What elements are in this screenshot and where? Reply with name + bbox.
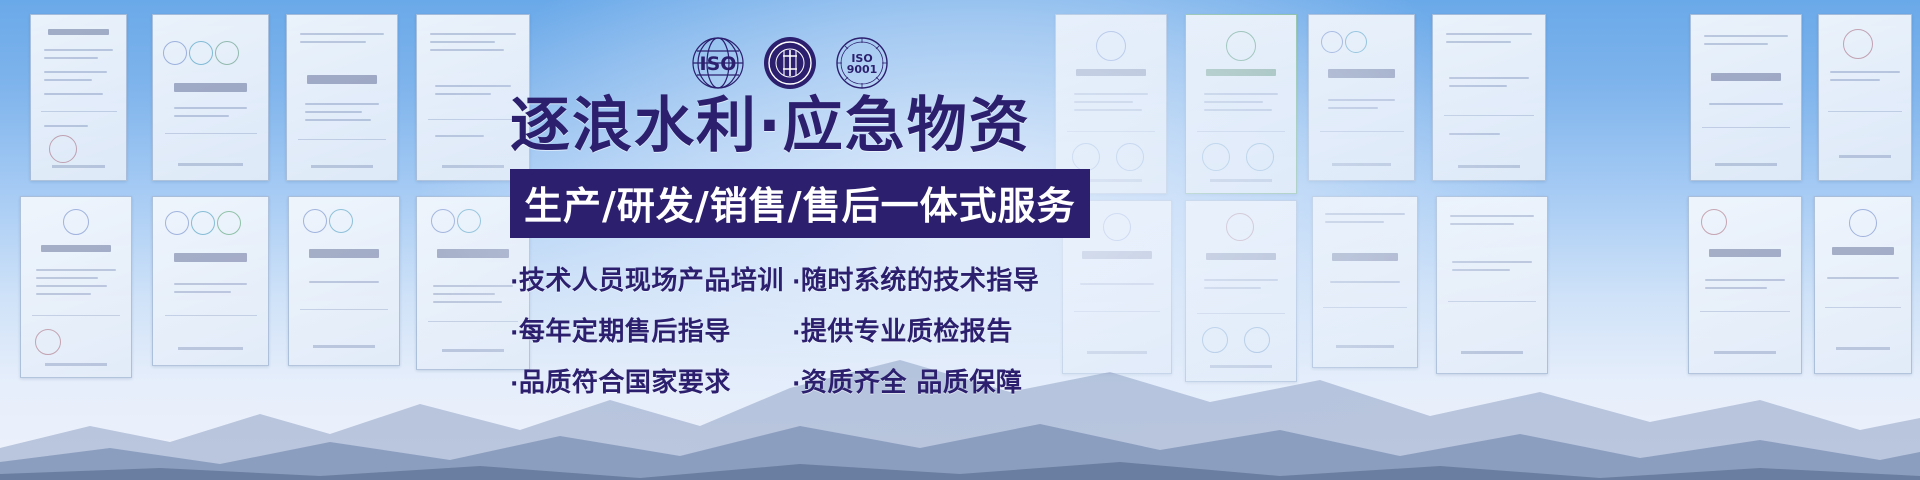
feature-item: ·随时系统的技术指导 (792, 260, 1039, 297)
feature-text: 资质齐全 品质保障 (801, 368, 1023, 398)
feature-item: ·品质符合国家要求 (510, 362, 792, 399)
feature-text: 随时系统的技术指导 (801, 266, 1040, 296)
feature-row: ·每年定期售后指导 ·提供专业质检报告 (510, 311, 1090, 348)
bullet-icon: · (510, 270, 519, 295)
feature-text: 每年定期售后指导 (519, 317, 731, 347)
svg-text:ISO: ISO (700, 53, 737, 75)
quality-inspection-seal (762, 35, 818, 91)
feature-text: 提供专业质检报告 (801, 317, 1013, 347)
feature-text: 技术人员现场产品培训 (519, 266, 784, 296)
bullet-icon: · (792, 321, 801, 346)
bullet-icon: · (510, 372, 519, 397)
certificate-thumb (152, 14, 269, 181)
feature-item: ·每年定期售后指导 (510, 311, 792, 348)
feature-item: ·技术人员现场产品培训 (510, 260, 792, 297)
certification-seals: ISO ISO 9 (690, 32, 890, 94)
feature-row: ·品质符合国家要求 ·资质齐全 品质保障 (510, 362, 1090, 399)
certificate-thumb (1432, 14, 1546, 181)
banner-subtitle-band: 生产/研发/销售/售后一体式服务 (510, 169, 1090, 238)
feature-row: ·技术人员现场产品培训 ·随时系统的技术指导 (510, 260, 1090, 297)
certificate-thumb (1185, 14, 1297, 194)
iso-9001-seal: ISO 9001 (834, 35, 890, 91)
feature-item: ·提供专业质检报告 (792, 311, 1013, 348)
bullet-icon: · (510, 321, 519, 346)
feature-list: ·技术人员现场产品培训 ·随时系统的技术指导 ·每年定期售后指导 ·提供专业质检… (510, 260, 1090, 399)
promo-banner: ISO ISO 9 (0, 0, 1920, 480)
certificate-thumb (1818, 14, 1912, 181)
bullet-icon: · (792, 372, 801, 397)
banner-content: 逐浪水利·应急物资 生产/研发/销售/售后一体式服务 ·技术人员现场产品培训 ·… (510, 96, 1090, 413)
certificate-thumb (1690, 14, 1802, 181)
feature-item: ·资质齐全 品质保障 (792, 362, 1022, 399)
certificate-thumb (1308, 14, 1415, 181)
iso-seal: ISO (690, 35, 746, 91)
bullet-icon: · (792, 270, 801, 295)
banner-title: 逐浪水利·应急物资 (510, 96, 1090, 157)
certificate-thumb (30, 14, 127, 181)
svg-text:9001: 9001 (847, 63, 878, 76)
feature-text: 品质符合国家要求 (519, 368, 731, 398)
certificate-thumb (286, 14, 398, 181)
